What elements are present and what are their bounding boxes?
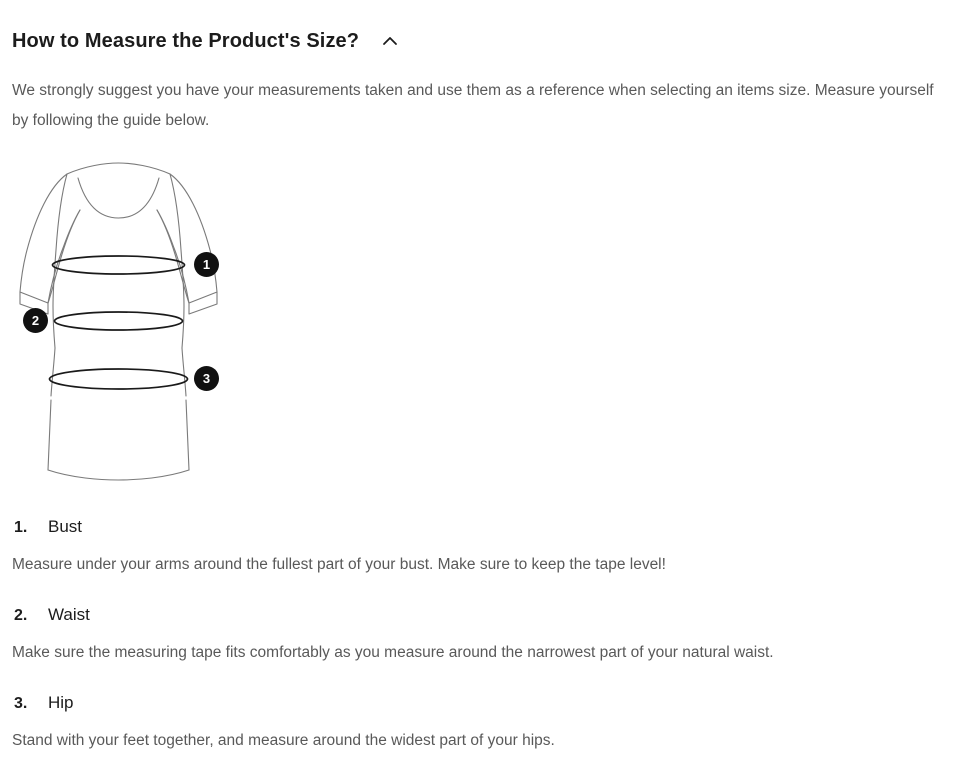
section-header[interactable]: How to Measure the Product's Size?: [10, 0, 961, 54]
measurement-description: Measure under your arms around the fulle…: [10, 550, 961, 580]
measurement-description: Stand with your feet together, and measu…: [10, 726, 961, 756]
measurement-list: 1. Bust Measure under your arms around t…: [10, 514, 961, 756]
measurement-name: Bust: [48, 514, 82, 540]
list-item: 1. Bust Measure under your arms around t…: [10, 514, 961, 580]
measurement-badge-2: 2: [23, 308, 48, 333]
measurement-badge-3: 3: [194, 366, 219, 391]
measurement-description: Make sure the measuring tape fits comfor…: [10, 638, 961, 668]
chevron-up-icon[interactable]: [377, 28, 403, 54]
measurement-number: 2.: [14, 607, 48, 625]
measurement-name: Waist: [48, 602, 90, 628]
page-title: How to Measure the Product's Size?: [12, 28, 359, 54]
intro-paragraph: We strongly suggest you have your measur…: [10, 76, 952, 136]
measurement-number: 3.: [14, 695, 48, 713]
measurement-number: 1.: [14, 519, 48, 537]
size-guide-page: How to Measure the Product's Size? We st…: [0, 0, 971, 769]
measurement-badge-1: 1: [194, 252, 219, 277]
measurement-heading-waist: 2. Waist: [10, 602, 961, 628]
list-item: 3. Hip Stand with your feet together, an…: [10, 690, 961, 756]
dress-measurement-diagram: 1 2 3: [10, 158, 240, 488]
list-item: 2. Waist Make sure the measuring tape fi…: [10, 602, 961, 668]
measurement-heading-bust: 1. Bust: [10, 514, 961, 540]
measurement-name: Hip: [48, 690, 74, 716]
measurement-heading-hip: 3. Hip: [10, 690, 961, 716]
